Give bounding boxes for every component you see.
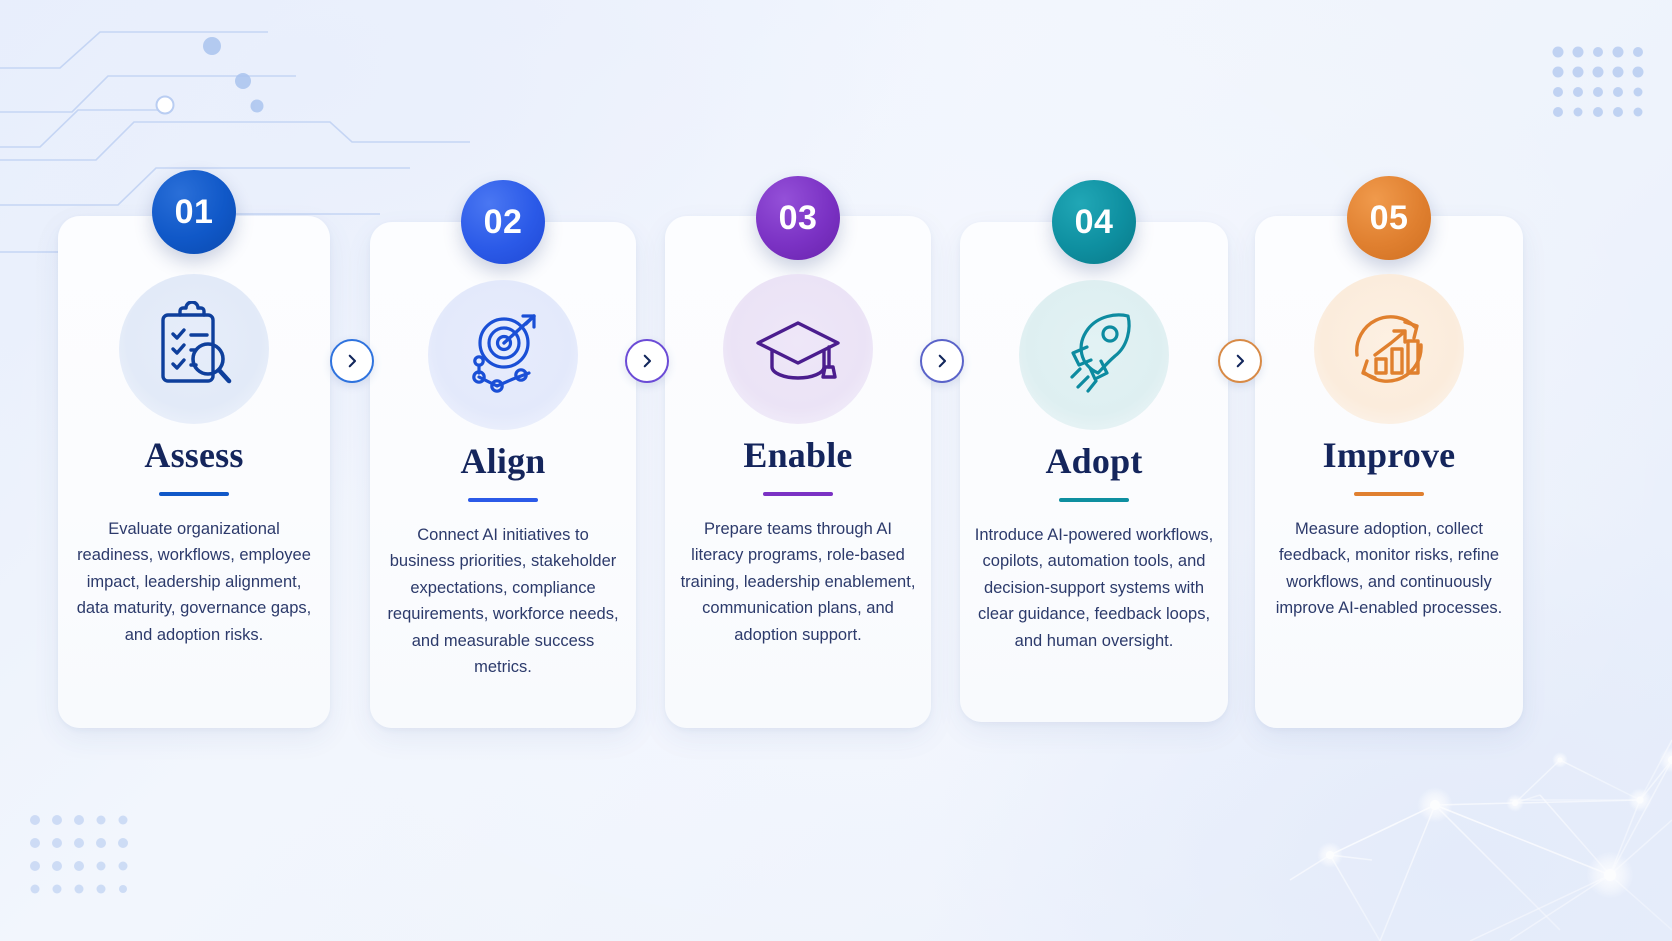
step-title-rule-01 bbox=[159, 492, 229, 496]
step-title-improve: Improve bbox=[1255, 434, 1523, 476]
step-card-adopt[interactable]: 04 Adopt Introduce AI-powered workflows,… bbox=[960, 222, 1228, 722]
step-card-enable[interactable]: 03 Enable Prepare teams through AI liter… bbox=[665, 216, 931, 728]
step-body-enable: Prepare teams through AI literacy progra… bbox=[679, 516, 917, 648]
rocket-icon bbox=[1046, 307, 1142, 403]
connector-node-3[interactable] bbox=[920, 339, 964, 383]
step-icon-disc-03 bbox=[723, 274, 873, 424]
chevron-right-icon bbox=[638, 352, 656, 370]
step-body-align: Connect AI initiatives to business prior… bbox=[384, 522, 622, 680]
step-icon-disc-02 bbox=[428, 280, 578, 430]
steps-rail: 01 Assess Evaluate organizational readin… bbox=[0, 0, 1672, 941]
step-number-badge-03: 03 bbox=[756, 176, 840, 260]
chevron-right-icon bbox=[933, 352, 951, 370]
step-title-rule-05 bbox=[1354, 492, 1424, 496]
step-card-align[interactable]: 02 Align Connect AI initia bbox=[370, 222, 636, 728]
connector-node-1[interactable] bbox=[330, 339, 374, 383]
step-icon-disc-05 bbox=[1314, 274, 1464, 424]
step-number-badge-05: 05 bbox=[1347, 176, 1431, 260]
step-title-assess: Assess bbox=[58, 434, 330, 476]
infographic-canvas: 01 Assess Evaluate organizational readin… bbox=[0, 0, 1672, 941]
step-card-assess[interactable]: 01 Assess Evaluate organizational readin… bbox=[58, 216, 330, 728]
connector-node-4[interactable] bbox=[1218, 339, 1262, 383]
growth-cycle-chart-icon bbox=[1341, 301, 1437, 397]
step-number-badge-01: 01 bbox=[152, 170, 236, 254]
chevron-right-icon bbox=[1231, 352, 1249, 370]
step-number-badge-04: 04 bbox=[1052, 180, 1136, 264]
target-arrow-network-icon bbox=[455, 307, 551, 403]
graduation-cap-icon bbox=[750, 301, 846, 397]
step-title-enable: Enable bbox=[665, 434, 931, 476]
step-body-improve: Measure adoption, collect feedback, moni… bbox=[1269, 516, 1509, 622]
step-number-badge-02: 02 bbox=[461, 180, 545, 264]
step-title-rule-03 bbox=[763, 492, 833, 496]
step-title-align: Align bbox=[370, 440, 636, 482]
step-body-adopt: Introduce AI-powered workflows, copilots… bbox=[974, 522, 1214, 654]
chevron-right-icon bbox=[343, 352, 361, 370]
step-title-rule-04 bbox=[1059, 498, 1129, 502]
step-icon-disc-04 bbox=[1019, 280, 1169, 430]
step-icon-disc-01 bbox=[119, 274, 269, 424]
step-title-adopt: Adopt bbox=[960, 440, 1228, 482]
step-title-rule-02 bbox=[468, 498, 538, 502]
connector-node-2[interactable] bbox=[625, 339, 669, 383]
step-card-improve[interactable]: 05 Improve Measure adoption, collect fee… bbox=[1255, 216, 1523, 728]
step-body-assess: Evaluate organizational readiness, workf… bbox=[72, 516, 316, 648]
clipboard-magnifier-icon bbox=[146, 301, 242, 397]
